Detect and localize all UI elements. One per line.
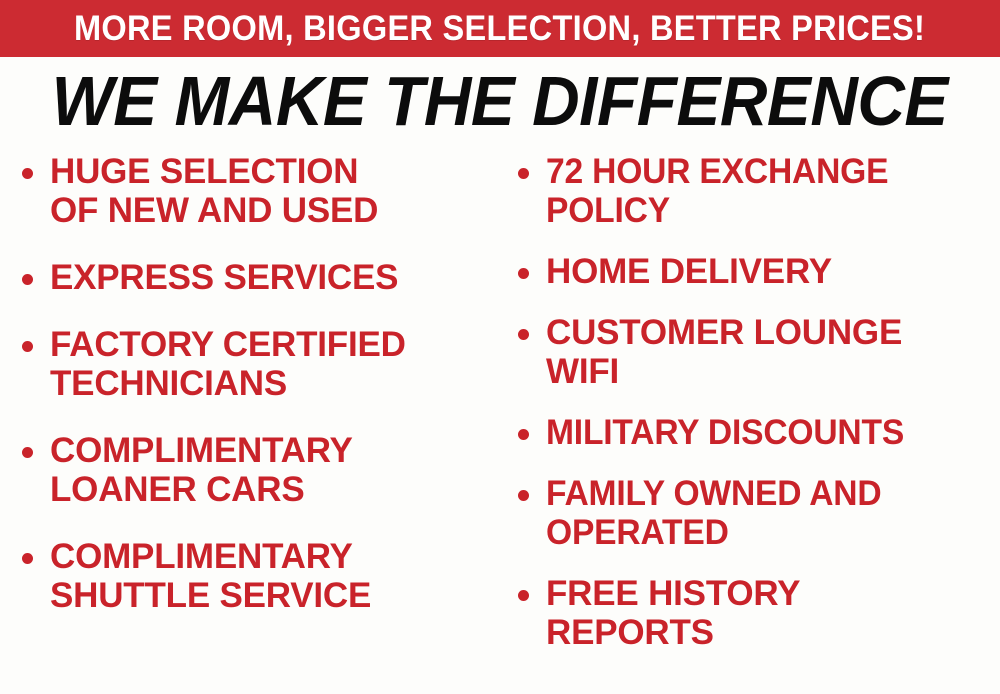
benefits-column-right: 72 HOUR EXCHANGE POLICY HOME DELIVERY CU… — [500, 152, 1000, 694]
benefits-list-right: 72 HOUR EXCHANGE POLICY HOME DELIVERY CU… — [510, 152, 1000, 652]
page-title-text: WE MAKE THE DIFFERENCE — [52, 65, 948, 137]
list-item: HUGE SELECTION OF NEW AND USED — [14, 152, 498, 230]
top-banner: MORE ROOM, BIGGER SELECTION, BETTER PRIC… — [0, 0, 1000, 57]
bullet-dot-icon — [22, 168, 33, 179]
list-item-label: HUGE SELECTION OF NEW AND USED — [50, 152, 498, 230]
list-item-label: FACTORY CERTIFIED TECHNICIANS — [50, 325, 498, 403]
banner-headline-text: MORE ROOM, BIGGER SELECTION, BETTER PRIC… — [74, 11, 925, 46]
list-item: CUSTOMER LOUNGE WIFI — [510, 313, 1000, 391]
list-item-label: EXPRESS SERVICES — [50, 258, 498, 297]
list-item: FACTORY CERTIFIED TECHNICIANS — [14, 325, 498, 403]
list-item-label: FAMILY OWNED AND OPERATED — [546, 474, 982, 552]
list-item: FAMILY OWNED AND OPERATED — [510, 474, 1000, 552]
bullet-dot-icon — [22, 553, 33, 564]
benefits-list-left: HUGE SELECTION OF NEW AND USED EXPRESS S… — [14, 152, 498, 615]
bullet-dot-icon — [518, 268, 529, 279]
page-title: WE MAKE THE DIFFERENCE — [0, 62, 1000, 140]
bullet-dot-icon — [518, 329, 529, 340]
bullet-dot-icon — [22, 274, 33, 285]
bullet-dot-icon — [518, 590, 529, 601]
list-item-label: COMPLIMENTARY LOANER CARS — [50, 431, 498, 509]
list-item: EXPRESS SERVICES — [14, 258, 498, 297]
list-item: FREE HISTORY REPORTS — [510, 574, 1000, 652]
benefits-column-left: HUGE SELECTION OF NEW AND USED EXPRESS S… — [0, 152, 500, 694]
bullet-dot-icon — [22, 447, 33, 458]
bullet-dot-icon — [518, 490, 529, 501]
list-item: 72 HOUR EXCHANGE POLICY — [510, 152, 1000, 230]
list-item-label: MILITARY DISCOUNTS — [546, 413, 982, 452]
list-item-label: FREE HISTORY REPORTS — [546, 574, 1000, 652]
list-item-label: 72 HOUR EXCHANGE POLICY — [546, 152, 982, 230]
bullet-dot-icon — [22, 341, 33, 352]
bullet-dot-icon — [518, 429, 529, 440]
list-item-label: COMPLIMENTARY SHUTTLE SERVICE — [50, 537, 498, 615]
list-item-label: CUSTOMER LOUNGE WIFI — [546, 313, 1000, 391]
list-item: MILITARY DISCOUNTS — [510, 413, 1000, 452]
promo-poster: MORE ROOM, BIGGER SELECTION, BETTER PRIC… — [0, 0, 1000, 694]
benefits-columns: HUGE SELECTION OF NEW AND USED EXPRESS S… — [0, 152, 1000, 694]
list-item-label: HOME DELIVERY — [546, 252, 1000, 291]
list-item: COMPLIMENTARY SHUTTLE SERVICE — [14, 537, 498, 615]
list-item: HOME DELIVERY — [510, 252, 1000, 291]
list-item: COMPLIMENTARY LOANER CARS — [14, 431, 498, 509]
bullet-dot-icon — [518, 168, 529, 179]
